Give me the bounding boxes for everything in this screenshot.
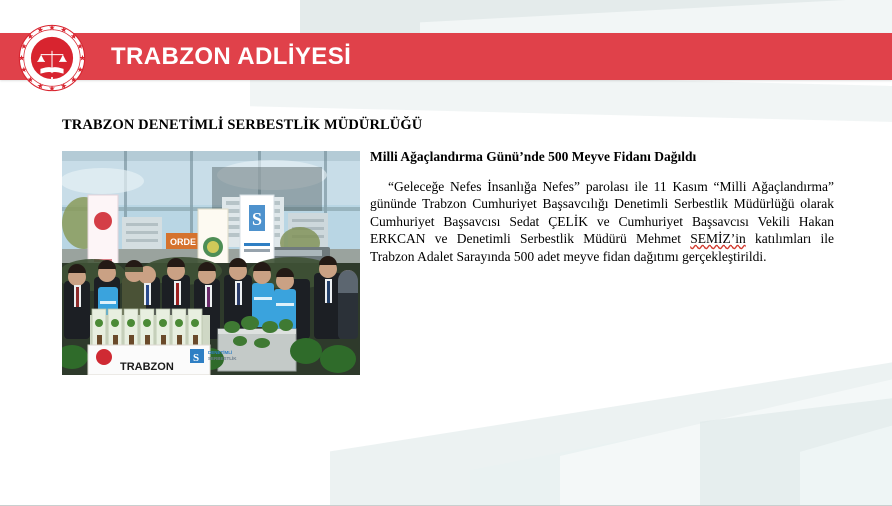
office-heading: TRABZON DENETİMLİ SERBESTLİK MÜDÜRLÜĞÜ — [62, 117, 422, 134]
article: Milli Ağaçlandırma Günü’nde 500 Meyve Fi… — [370, 148, 834, 265]
decorative-shard-bottom-2 — [560, 336, 892, 506]
decorative-shard-bottom-4 — [800, 360, 892, 506]
svg-text:DENETİMLİ: DENETİMLİ — [208, 349, 232, 355]
decorative-shard-bottom-5 — [470, 412, 770, 506]
svg-text:SERBESTLİK: SERBESTLİK — [208, 355, 237, 361]
decorative-shard-bottom-3 — [700, 370, 892, 506]
svg-text:S: S — [252, 209, 262, 229]
spellcheck-flagged-word: SEMİZ’in — [690, 231, 746, 246]
page-title: TRABZON ADLİYESİ — [111, 43, 351, 71]
turkish-ministry-of-justice-emblem-icon — [18, 24, 86, 92]
article-title: Milli Ağaçlandırma Günü’nde 500 Meyve Fi… — [370, 148, 834, 166]
article-body: “Geleceğe Nefes İnsanlığa Nefes” parolas… — [370, 178, 834, 265]
svg-text:TRABZON: TRABZON — [120, 361, 174, 373]
sapling-distribution-ceremony-photo: ORDE S — [62, 151, 360, 375]
svg-text:ORDE: ORDE — [170, 237, 196, 247]
svg-text:S: S — [193, 352, 199, 364]
decorative-shard-bottom-1 — [330, 341, 892, 506]
